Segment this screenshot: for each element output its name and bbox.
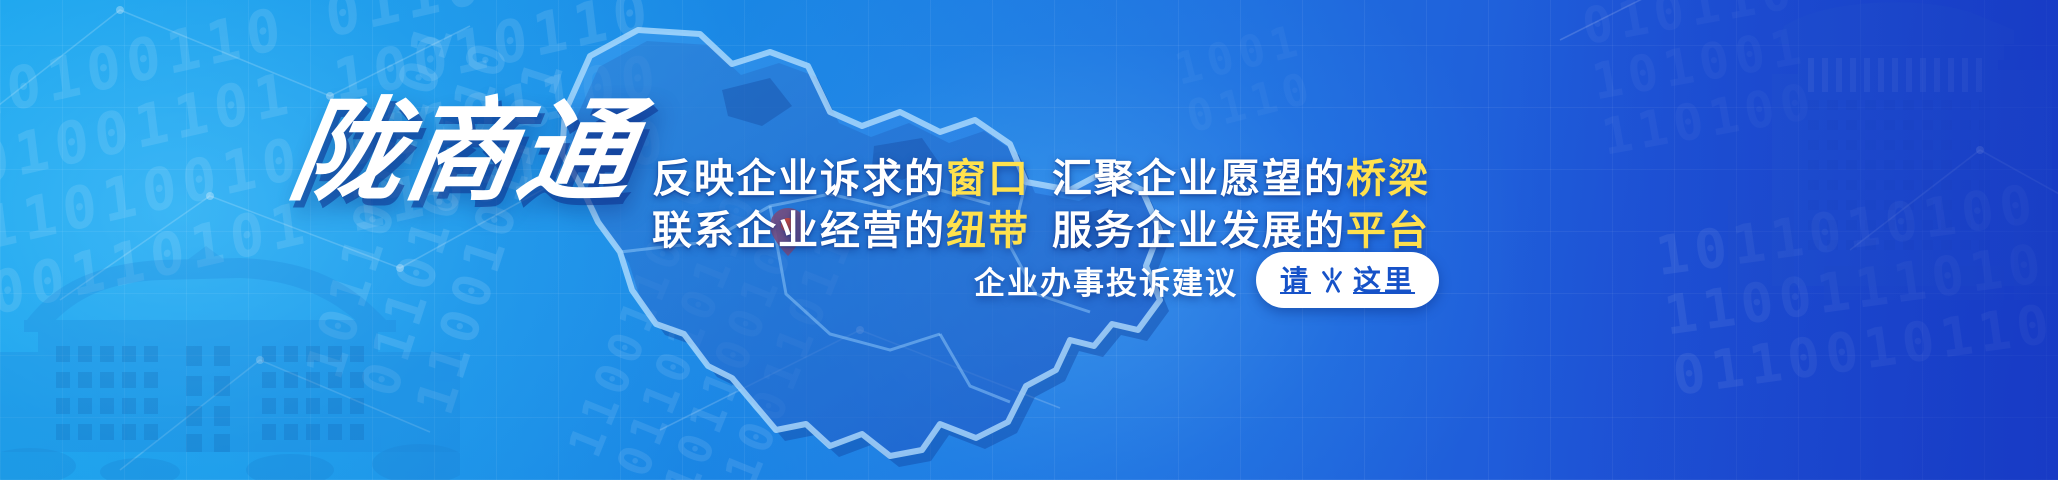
subtitle-1-plain-1: 反映企业诉求的 — [652, 157, 946, 201]
cta-label: 企业办事投诉建议 — [974, 258, 1238, 303]
banner-content: 陇商通 反映企业诉求的窗口汇聚企业愿望的桥梁 联系企业经营的纽带服务企业发展的平… — [0, 0, 2058, 480]
subtitle-1-highlight-2: 桥梁 — [1346, 157, 1430, 201]
subtitle-2-highlight-2: 平台 — [1346, 209, 1430, 253]
subtitle-2-plain-2: 服务企业发展的 — [1052, 209, 1346, 253]
subtitle-line-1: 反映企业诉求的窗口汇聚企业愿望的桥梁 — [652, 146, 1430, 204]
promo-banner: 10100110 01101001 01001101 10010110 1101… — [0, 0, 2058, 480]
banner-title: 陇商通 — [283, 96, 643, 208]
click-here-button[interactable]: 请 这里 — [1256, 252, 1439, 308]
click-star-icon — [1317, 265, 1347, 295]
subtitle-2-highlight-1: 纽带 — [946, 209, 1030, 253]
click-here-prefix: 请 — [1280, 259, 1311, 299]
subtitle-2-plain-1: 联系企业经营的 — [652, 209, 946, 253]
cta-row: 企业办事投诉建议 请 这里 — [974, 252, 1439, 308]
subtitle-1-plain-2: 汇聚企业愿望的 — [1052, 157, 1346, 201]
subtitle-1-highlight-1: 窗口 — [946, 157, 1030, 201]
click-here-suffix: 这里 — [1353, 259, 1415, 299]
subtitle-line-2: 联系企业经营的纽带服务企业发展的平台 — [652, 198, 1430, 256]
